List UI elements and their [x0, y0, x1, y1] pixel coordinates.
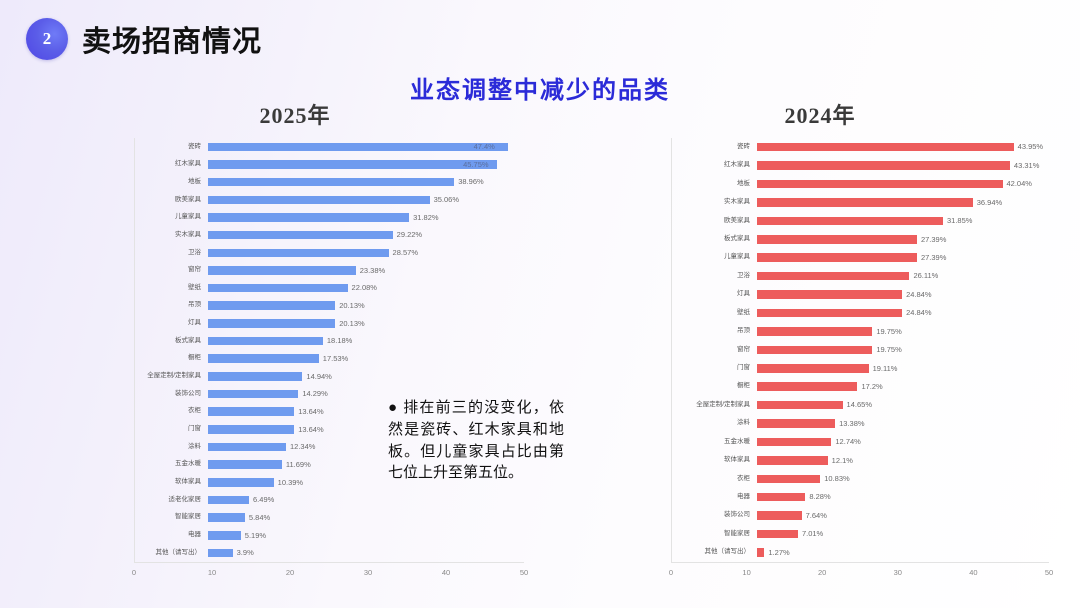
chart-title-2025: 2025年 — [60, 98, 530, 130]
bar-row: 其他（请写出）1.27% — [671, 543, 1049, 561]
bar-category-label: 其他（请写出） — [671, 549, 757, 556]
bar-row: 电器8.28% — [671, 488, 1049, 506]
x-axis-rule — [671, 562, 1049, 563]
bar — [757, 180, 1003, 189]
bar-category-label: 五金水暖 — [671, 439, 757, 446]
bar-track: 6.49% — [208, 491, 524, 509]
bar-category-label: 全屋定制/定制家具 — [134, 373, 208, 380]
bar-category-label: 儿童家具 — [134, 214, 208, 221]
chart-title-2024: 2024年 — [585, 98, 1055, 130]
bar — [208, 213, 409, 222]
x-axis-tick: 50 — [1045, 568, 1053, 577]
bar — [757, 456, 828, 465]
bar-track: 1.27% — [757, 543, 1049, 561]
bar — [757, 235, 917, 244]
bar-track: 23.38% — [208, 262, 524, 280]
bar-track: 43.31% — [757, 156, 1049, 174]
bar-row: 五金水暖12.74% — [671, 433, 1049, 451]
bar-track: 5.19% — [208, 526, 524, 544]
bar-category-label: 装饰公司 — [671, 512, 757, 519]
x-axis-tick: 10 — [208, 568, 216, 577]
bar-value-label: 5.19% — [245, 532, 266, 540]
bar-value-label: 6.49% — [253, 496, 274, 504]
bar-value-label: 12.1% — [832, 457, 853, 465]
x-axis-tick: 40 — [969, 568, 977, 577]
bar-track: 28.57% — [208, 244, 524, 262]
bar-value-label: 19.75% — [876, 328, 901, 336]
bar-value-label: 19.75% — [876, 346, 901, 354]
page-title: 卖场招商情况 — [82, 18, 262, 60]
bar-category-label: 五金水暖 — [134, 461, 208, 468]
bar — [208, 284, 348, 293]
x-axis-tick: 30 — [364, 568, 372, 577]
bar-category-label: 卫浴 — [134, 250, 208, 257]
bar-track: 29.22% — [208, 226, 524, 244]
bar-row: 儿童家具31.82% — [134, 209, 524, 227]
bar-row: 实木家具36.94% — [671, 193, 1049, 211]
bar-track: 27.39% — [757, 230, 1049, 248]
bar — [208, 549, 233, 558]
bar-row: 卫浴26.11% — [671, 267, 1049, 285]
bar-track: 45.75% — [208, 156, 524, 174]
bar — [757, 161, 1010, 170]
bar-track: 12.74% — [757, 433, 1049, 451]
bar-row: 全屋定制/定制家具14.65% — [671, 396, 1049, 414]
bar-category-label: 灯具 — [134, 320, 208, 327]
bar-value-label: 35.06% — [434, 196, 459, 204]
bar-value-label: 31.82% — [413, 214, 438, 222]
bar-category-label: 壁纸 — [134, 285, 208, 292]
bar — [757, 143, 1014, 152]
bar-category-label: 窗帘 — [671, 347, 757, 354]
bar — [757, 290, 902, 299]
bar-row: 卫浴28.57% — [134, 244, 524, 262]
bar-category-label: 衣柜 — [134, 408, 208, 415]
bar-category-label: 其他（请写出） — [134, 550, 208, 557]
bar-row: 适老化家居6.49% — [134, 491, 524, 509]
bar-category-label: 实木家具 — [671, 199, 757, 206]
bar-track: 42.04% — [757, 175, 1049, 193]
bar-track: 19.11% — [757, 359, 1049, 377]
bar-value-label: 27.39% — [921, 236, 946, 244]
bar-category-label: 实木家具 — [134, 232, 208, 239]
x-axis-tick: 0 — [669, 568, 673, 577]
bar-category-label: 涂料 — [671, 420, 757, 427]
bar-category-label: 瓷砖 — [671, 144, 757, 151]
bar — [757, 346, 872, 355]
bar-row: 地板42.04% — [671, 175, 1049, 193]
bar-value-label: 14.65% — [847, 401, 872, 409]
bar-track: 22.08% — [208, 279, 524, 297]
bar-category-label: 窗帘 — [134, 267, 208, 274]
bar-category-label: 吊顶 — [671, 328, 757, 335]
bar-value-label: 1.27% — [768, 549, 789, 557]
bar-category-label: 软体家具 — [671, 457, 757, 464]
x-axis-tick: 20 — [818, 568, 826, 577]
bar — [757, 530, 798, 539]
bar-list-2025: 瓷砖47.4%红木家具45.75%地板38.96%欧美家具35.06%儿童家具3… — [134, 138, 524, 562]
bar-track: 13.38% — [757, 414, 1049, 432]
bar-value-label: 24.84% — [906, 309, 931, 317]
annotation-note: ● 排在前三的没变化，依然是瓷砖、红木家具和地板。但儿童家具占比由第七位上升至第… — [388, 398, 564, 485]
bar-row: 灯具24.84% — [671, 285, 1049, 303]
bar-track: 5.84% — [208, 509, 524, 527]
bar-category-label: 欧美家具 — [134, 197, 208, 204]
chart-plot-2024: 瓷砖43.95%红木家具43.31%地板42.04%实木家具36.94%欧美家具… — [585, 138, 1055, 586]
bar-value-label: 13.64% — [298, 426, 323, 434]
bar-track: 47.4% — [208, 138, 524, 156]
bar-value-label: 5.84% — [249, 514, 270, 522]
bar-category-label: 电器 — [134, 532, 208, 539]
bar-track: 43.95% — [757, 138, 1049, 156]
bar-track: 31.82% — [208, 209, 524, 227]
x-axis-tick: 20 — [286, 568, 294, 577]
bar-value-label: 29.22% — [397, 231, 422, 239]
bar-category-label: 门窗 — [671, 365, 757, 372]
bar-row: 电器5.19% — [134, 526, 524, 544]
bar-value-label: 31.85% — [947, 217, 972, 225]
bar-category-label: 板式家具 — [134, 338, 208, 345]
bar-row: 软体家具12.1% — [671, 451, 1049, 469]
bar-track: 17.53% — [208, 350, 524, 368]
bar-category-label: 橱柜 — [671, 383, 757, 390]
bar-row: 壁纸24.84% — [671, 304, 1049, 322]
chart-plot-2025: 瓷砖47.4%红木家具45.75%地板38.96%欧美家具35.06%儿童家具3… — [60, 138, 530, 586]
bar-value-label: 19.11% — [873, 365, 898, 373]
bar-value-label: 12.74% — [835, 438, 860, 446]
bar-category-label: 全屋定制/定制家具 — [671, 402, 757, 409]
bar — [208, 513, 245, 522]
bar — [208, 354, 319, 363]
bar-value-label: 43.31% — [1014, 162, 1039, 170]
bar-value-label: 14.94% — [306, 373, 331, 381]
bar-row: 窗帘23.38% — [134, 262, 524, 280]
bar — [757, 493, 805, 502]
bar — [208, 460, 282, 469]
bar-category-label: 灯具 — [671, 291, 757, 298]
bar-category-label: 板式家具 — [671, 236, 757, 243]
bar — [208, 478, 274, 487]
bar-category-label: 智能家居 — [671, 531, 757, 538]
x-axis-2025: 01020304050 — [134, 562, 524, 584]
bar-value-label: 20.13% — [339, 320, 364, 328]
bar — [208, 178, 454, 187]
bar-track: 20.13% — [208, 315, 524, 333]
bar-list-2024: 瓷砖43.95%红木家具43.31%地板42.04%实木家具36.94%欧美家具… — [671, 138, 1049, 562]
bar — [757, 401, 843, 410]
bar — [208, 249, 389, 258]
bar-category-label: 红木家具 — [134, 161, 208, 168]
bar-row: 装饰公司7.64% — [671, 506, 1049, 524]
x-axis-tick: 0 — [132, 568, 136, 577]
bar-value-label: 11.69% — [286, 461, 311, 469]
bar-row: 灯具20.13% — [134, 315, 524, 333]
bar — [208, 301, 335, 310]
chart-panel-2025: 2025年 瓷砖47.4%红木家具45.75%地板38.96%欧美家具35.06… — [60, 98, 530, 588]
bar-row: 智能家居5.84% — [134, 509, 524, 527]
bar-value-label: 14.29% — [302, 390, 327, 398]
bar-value-label: 22.08% — [352, 284, 377, 292]
bar — [208, 531, 241, 540]
bar-track: 26.11% — [757, 267, 1049, 285]
bar-track: 8.28% — [757, 488, 1049, 506]
x-axis-rule — [134, 562, 524, 563]
bar-value-label: 12.34% — [290, 443, 315, 451]
bar-value-label: 42.04% — [1007, 180, 1032, 188]
bar-row: 橱柜17.2% — [671, 377, 1049, 395]
bar-value-label: 23.38% — [360, 267, 385, 275]
bar — [757, 327, 872, 336]
bar-value-label: 7.64% — [806, 512, 827, 520]
bar-category-label: 吊顶 — [134, 302, 208, 309]
bar-category-label: 瓷砖 — [134, 144, 208, 151]
bar-row: 窗帘19.75% — [671, 341, 1049, 359]
bar-track: 10.83% — [757, 470, 1049, 488]
bar-value-label: 43.95% — [1018, 143, 1043, 151]
bar — [208, 407, 294, 416]
bar — [757, 364, 869, 373]
bar-track: 35.06% — [208, 191, 524, 209]
bar-value-label: 38.96% — [458, 178, 483, 186]
bar-row: 瓷砖43.95% — [671, 138, 1049, 156]
bar-track: 3.9% — [208, 544, 524, 562]
bar — [757, 419, 835, 428]
bar-row: 壁纸22.08% — [134, 279, 524, 297]
bar-category-label: 适老化家居 — [134, 497, 208, 504]
bar-row: 全屋定制/定制家具14.94% — [134, 368, 524, 386]
bar — [208, 496, 249, 505]
bar-category-label: 地板 — [671, 181, 757, 188]
bar — [208, 231, 393, 240]
bar-track: 12.1% — [757, 451, 1049, 469]
bar-category-label: 涂料 — [134, 444, 208, 451]
bar-category-label: 软体家具 — [134, 479, 208, 486]
bar — [757, 511, 802, 520]
bar-row: 儿童家具27.39% — [671, 249, 1049, 267]
bar — [208, 372, 302, 381]
bar-value-label: 47.4% — [474, 143, 495, 151]
bar-row: 吊顶20.13% — [134, 297, 524, 315]
bar-category-label: 壁纸 — [671, 310, 757, 317]
bar — [757, 272, 909, 281]
bar — [757, 217, 943, 226]
bar-category-label: 地板 — [134, 179, 208, 186]
bar-category-label: 儿童家具 — [671, 254, 757, 261]
step-number-badge: 2 — [26, 18, 68, 60]
bar-value-label: 45.75% — [463, 161, 488, 169]
bar-value-label: 10.83% — [824, 475, 849, 483]
bar-category-label: 装饰公司 — [134, 391, 208, 398]
bar-row: 欧美家具35.06% — [134, 191, 524, 209]
chart-panel-2024: 2024年 瓷砖43.95%红木家具43.31%地板42.04%实木家具36.9… — [585, 98, 1055, 588]
bar-value-label: 17.2% — [861, 383, 882, 391]
bar-track: 18.18% — [208, 332, 524, 350]
bar-row: 红木家具43.31% — [671, 156, 1049, 174]
bar-row: 板式家具27.39% — [671, 230, 1049, 248]
bar-track: 27.39% — [757, 249, 1049, 267]
bar — [757, 198, 973, 207]
bar-row: 吊顶19.75% — [671, 322, 1049, 340]
bar-track: 14.65% — [757, 396, 1049, 414]
bar-value-label: 13.38% — [839, 420, 864, 428]
bar-row: 橱柜17.53% — [134, 350, 524, 368]
step-number-text: 2 — [43, 29, 52, 49]
bar — [757, 309, 902, 318]
bar-row: 欧美家具31.85% — [671, 212, 1049, 230]
bar-category-label: 卫浴 — [671, 273, 757, 280]
bar-track: 7.01% — [757, 525, 1049, 543]
bar-category-label: 欧美家具 — [671, 218, 757, 225]
bar — [208, 319, 335, 328]
bar — [208, 425, 294, 434]
bar-track: 20.13% — [208, 297, 524, 315]
bar — [208, 337, 323, 346]
bar-row: 实木家具29.22% — [134, 226, 524, 244]
x-axis-tick: 50 — [520, 568, 528, 577]
bar — [757, 382, 857, 391]
bar-category-label: 衣柜 — [671, 476, 757, 483]
bar — [208, 196, 430, 205]
x-axis-2024: 01020304050 — [671, 562, 1049, 584]
bar-track: 19.75% — [757, 322, 1049, 340]
bar-category-label: 智能家居 — [134, 514, 208, 521]
bar-value-label: 27.39% — [921, 254, 946, 262]
bar-value-label: 24.84% — [906, 291, 931, 299]
bar-value-label: 10.39% — [278, 479, 303, 487]
bar-track: 24.84% — [757, 285, 1049, 303]
bar — [208, 390, 298, 399]
bar-category-label: 橱柜 — [134, 355, 208, 362]
bar — [208, 266, 356, 275]
bar-value-label: 26.11% — [913, 272, 938, 280]
bar-track: 38.96% — [208, 173, 524, 191]
bar-track: 36.94% — [757, 193, 1049, 211]
bar-track: 14.94% — [208, 368, 524, 386]
bar-value-label: 17.53% — [323, 355, 348, 363]
bar — [757, 548, 764, 557]
bar — [208, 443, 286, 452]
bar-row: 涂料13.38% — [671, 414, 1049, 432]
bar-row: 门窗19.11% — [671, 359, 1049, 377]
bar-row: 红木家具45.75% — [134, 156, 524, 174]
bar-row: 衣柜10.83% — [671, 470, 1049, 488]
bar — [757, 253, 917, 262]
bar-value-label: 7.01% — [802, 530, 823, 538]
bar-category-label: 电器 — [671, 494, 757, 501]
bar-value-label: 36.94% — [977, 199, 1002, 207]
x-axis-tick: 10 — [742, 568, 750, 577]
bar-row: 瓷砖47.4% — [134, 138, 524, 156]
bar-value-label: 18.18% — [327, 337, 352, 345]
bar-value-label: 20.13% — [339, 302, 364, 310]
bar — [208, 143, 508, 152]
bar-track: 17.2% — [757, 377, 1049, 395]
bar-row: 地板38.96% — [134, 173, 524, 191]
bar-track: 19.75% — [757, 341, 1049, 359]
bar-track: 24.84% — [757, 304, 1049, 322]
slide-header: 2 卖场招商情况 — [26, 18, 262, 60]
bar — [757, 475, 820, 484]
bar-category-label: 红木家具 — [671, 162, 757, 169]
bar-row: 其他（请写出）3.9% — [134, 544, 524, 562]
x-axis-tick: 40 — [442, 568, 450, 577]
bar-value-label: 3.9% — [237, 549, 254, 557]
bar — [208, 160, 497, 169]
bar-value-label: 13.64% — [298, 408, 323, 416]
bar-track: 31.85% — [757, 212, 1049, 230]
bar — [757, 438, 831, 447]
bar-track: 7.64% — [757, 506, 1049, 524]
x-axis-tick: 30 — [894, 568, 902, 577]
bar-row: 智能家居7.01% — [671, 525, 1049, 543]
bar-row: 板式家具18.18% — [134, 332, 524, 350]
bar-value-label: 28.57% — [393, 249, 418, 257]
bar-value-label: 8.28% — [809, 493, 830, 501]
bar-category-label: 门窗 — [134, 426, 208, 433]
